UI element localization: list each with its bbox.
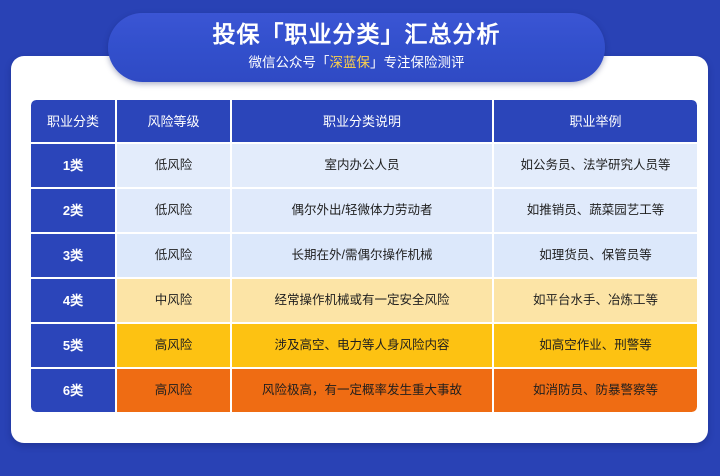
column-header-description: 职业分类说明 [232,100,494,142]
cell-examples: 如平台水手、冶炼工等 [494,277,697,322]
cell-description: 涉及高空、电力等人身风险内容 [232,322,494,367]
cell-category: 6类 [31,367,117,412]
cell-category: 3类 [31,232,117,277]
cell-risk-level: 高风险 [117,322,232,367]
cell-examples: 如推销员、蔬菜园艺工等 [494,187,697,232]
cell-examples: 如消防员、防暴警察等 [494,367,697,412]
cell-description: 风险极高，有一定概率发生重大事故 [232,367,494,412]
table-row: 5类高风险涉及高空、电力等人身风险内容如高空作业、刑警等 [31,322,697,367]
cell-description: 长期在外/需偶尔操作机械 [232,232,494,277]
table-row: 6类高风险风险极高，有一定概率发生重大事故如消防员、防暴警察等 [31,367,697,412]
cell-description: 偶尔外出/轻微体力劳动者 [232,187,494,232]
cell-category: 4类 [31,277,117,322]
table-header: 职业分类 风险等级 职业分类说明 职业举例 [31,100,697,142]
table-body: 1类低风险室内办公人员如公务员、法学研究人员等2类低风险偶尔外出/轻微体力劳动者… [31,142,697,412]
table-row: 4类中风险经常操作机械或有一定安全风险如平台水手、冶炼工等 [31,277,697,322]
cell-risk-level: 高风险 [117,367,232,412]
table-row: 1类低风险室内办公人员如公务员、法学研究人员等 [31,142,697,187]
header-banner: 投保「职业分类」汇总分析 微信公众号「深蓝保」专注保险测评 [108,13,605,82]
subtitle-prefix: 微信公众号「 [249,55,330,70]
cell-risk-level: 低风险 [117,232,232,277]
column-header-examples: 职业举例 [494,100,697,142]
table-row: 2类低风险偶尔外出/轻微体力劳动者如推销员、蔬菜园艺工等 [31,187,697,232]
cell-examples: 如高空作业、刑警等 [494,322,697,367]
cell-description: 经常操作机械或有一定安全风险 [232,277,494,322]
subtitle-brand: 深蓝保 [330,55,371,70]
cell-category: 5类 [31,322,117,367]
cell-category: 1类 [31,142,117,187]
cell-examples: 如公务员、法学研究人员等 [494,142,697,187]
occupation-classification-table: 职业分类 风险等级 职业分类说明 职业举例 1类低风险室内办公人员如公务员、法学… [31,100,697,412]
table-row: 3类低风险长期在外/需偶尔操作机械如理货员、保管员等 [31,232,697,277]
cell-risk-level: 中风险 [117,277,232,322]
page-title: 投保「职业分类」汇总分析 [213,19,501,49]
column-header-risk-level: 风险等级 [117,100,232,142]
cell-risk-level: 低风险 [117,142,232,187]
page-subtitle: 微信公众号「深蓝保」专注保险测评 [249,52,465,74]
cell-description: 室内办公人员 [232,142,494,187]
subtitle-suffix: 」专注保险测评 [370,55,465,70]
cell-category: 2类 [31,187,117,232]
table-header-row: 职业分类 风险等级 职业分类说明 职业举例 [31,100,697,142]
cell-examples: 如理货员、保管员等 [494,232,697,277]
cell-risk-level: 低风险 [117,187,232,232]
column-header-category: 职业分类 [31,100,117,142]
